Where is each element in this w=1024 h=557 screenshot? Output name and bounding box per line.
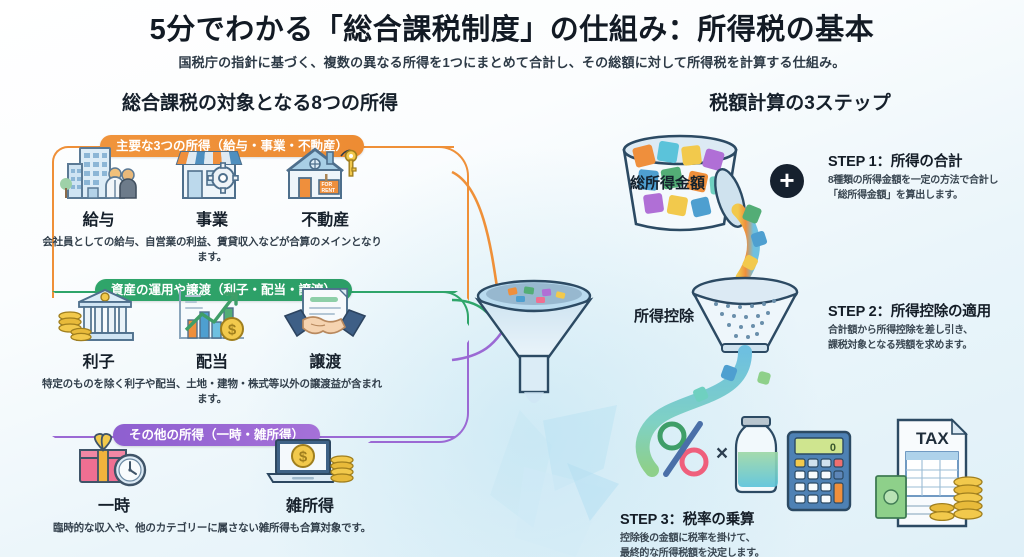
income-item-real-estate: FORRENT 不動産 (277, 140, 373, 230)
tax-document-icon: TAX (876, 420, 982, 526)
income-group-main: 給与 (42, 158, 382, 264)
income-item-dividend: $ 配当 (164, 282, 260, 372)
income-item-label: 譲渡 (277, 348, 373, 372)
group-2-bracket-curve (368, 291, 469, 326)
income-group-other: 一時 $ (42, 444, 382, 535)
income-item-label: 給与 (51, 206, 147, 230)
bucket-label: 総所得金額 (630, 172, 705, 193)
calculator-display-value: 0 (830, 442, 836, 454)
group-1-bracket-curve (368, 146, 469, 301)
page-title: 5分でわかる「総合課税制度」の仕組み：所得税の基本 (0, 6, 1024, 48)
laptop-coins-icon: $ (262, 426, 358, 488)
step-body: 8種類の所得金額を一定の方法で合計し 「総所得金額」を算出します。 (828, 174, 1020, 203)
income-item-misc: $ 雑所得 (262, 426, 358, 516)
right-column-heading: 税額計算の3ステップ (600, 88, 1000, 115)
storefront-gear-icon (164, 140, 260, 202)
income-item-label: 配当 (164, 348, 260, 372)
bank-coins-icon (51, 282, 147, 344)
step-body: 合計額から所得控除を差し引き、 課税対象となる残額を求めます。 (828, 324, 1020, 353)
income-item-interest: 利子 (51, 282, 147, 372)
house-key-icon: FORRENT (277, 140, 373, 202)
income-item-label: 利子 (51, 348, 147, 372)
svg-text:$: $ (299, 449, 308, 466)
income-item-label: 雑所得 (262, 492, 358, 516)
income-group-description: 特定のものを除く利子や配当、土地・建物・株式等以外の譲渡益が含まれます。 (42, 376, 382, 406)
step-body-line: 「総所得金額」を算出します。 (828, 189, 1020, 204)
step-body-line: 最終的な所得税額を決定します。 (620, 547, 850, 557)
percent-icon (660, 424, 706, 474)
income-group-assets: 利子 $ (42, 300, 382, 406)
step-body-line: 8種類の所得金額を一定の方法で合計し (828, 174, 1020, 189)
income-item-business: 事業 (164, 140, 260, 230)
step-body-line: 合計額から所得控除を差し引き、 (828, 324, 1020, 339)
step-body-line: 課税対象となる残額を求めます。 (828, 339, 1020, 354)
calculator-icon: 0 (788, 432, 850, 510)
windmill-watermark-icon (455, 405, 645, 557)
step-title: STEP 3：税率の乗算 (620, 508, 850, 529)
income-item-label: 一時 (66, 492, 162, 516)
income-group-description: 臨時的な収入や、他のカテゴリーに属さない雑所得も合算対象です。 (42, 520, 382, 535)
plus-badge-icon: + (770, 164, 804, 198)
step-title: STEP 2：所得控除の適用 (828, 300, 1020, 321)
step-title: STEP 1：所得の合計 (828, 150, 1020, 171)
income-group-description: 会社員としての給与、自営業の利益、賃貸収入などが合算のメインとなります。 (42, 234, 382, 264)
income-item-salary: 給与 (51, 140, 147, 230)
svg-text:RENT: RENT (322, 188, 336, 194)
income-item-row: 給与 (42, 158, 382, 230)
step-3: STEP 3：税率の乗算 控除後の金額に税率を掛けて、 最終的な所得税額を決定し… (620, 508, 850, 557)
income-item-occasional: 一時 (66, 426, 162, 516)
income-item-label: 事業 (164, 206, 260, 230)
left-column-heading: 総合課税の対象となる8つの所得 (60, 88, 460, 115)
growth-chart-dollar-icon: $ (164, 282, 260, 344)
infographic-page: 5分でわかる「総合課税制度」の仕組み：所得税の基本 国税庁の指針に基づく、複数の… (0, 0, 1024, 557)
step-body-line: 控除後の金額に税率を掛けて、 (620, 532, 850, 547)
tax-document-label: TAX (916, 429, 949, 448)
multiply-symbol: × (716, 442, 728, 465)
total-income-bucket-icon (624, 136, 768, 278)
funnel-label: 所得控除 (634, 305, 694, 326)
handshake-document-icon (277, 282, 373, 344)
step-2: STEP 2：所得控除の適用 合計額から所得控除を差し引き、 課税対象となる残額… (828, 300, 1020, 353)
income-item-transfer: 譲渡 (277, 282, 373, 372)
step-body: 控除後の金額に税率を掛けて、 最終的な所得税額を決定します。 (620, 532, 850, 557)
group-3-bracket-curve (368, 340, 469, 443)
page-subtitle: 国税庁の指針に基づく、複数の異なる所得を1つにまとめて合計し、その総額に対して所… (0, 52, 1024, 71)
income-item-row: 利子 $ (42, 300, 382, 372)
step-1: STEP 1：所得の合計 8種類の所得金額を一定の方法で合計し 「総所得金額」を… (828, 150, 1020, 203)
office-building-icon (51, 140, 147, 202)
gift-clock-icon (66, 426, 162, 488)
svg-text:$: $ (228, 322, 237, 339)
central-funnel-icon (478, 281, 590, 403)
income-item-row: 一時 $ (42, 444, 382, 516)
jar-icon (736, 417, 778, 492)
income-item-label: 不動産 (277, 206, 373, 230)
